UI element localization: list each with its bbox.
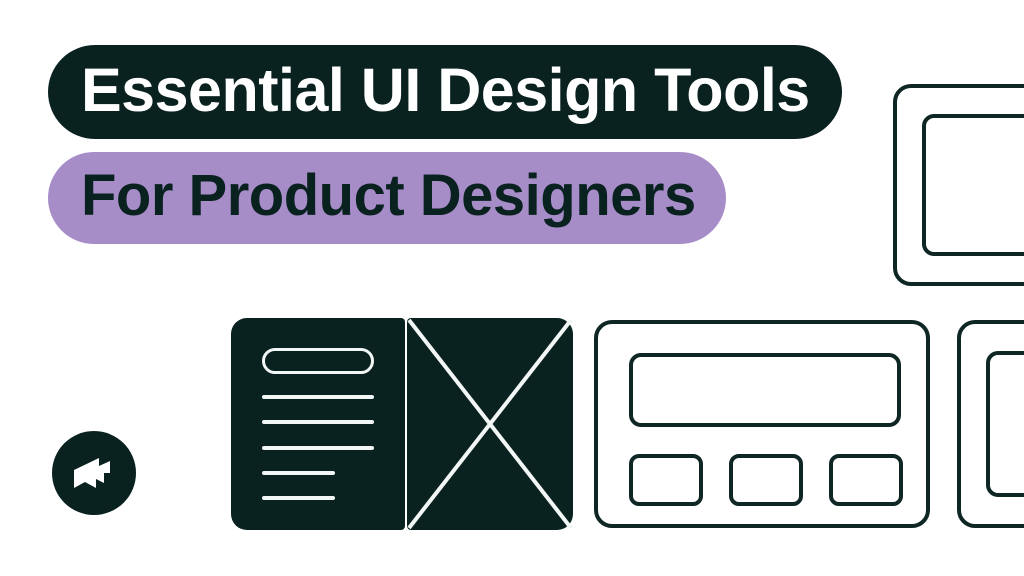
diagonal-cross-icon bbox=[407, 318, 573, 530]
wireframe-text-line-short bbox=[262, 471, 335, 475]
wireframe-form-card[interactable] bbox=[594, 320, 930, 528]
wireframe-button-block bbox=[629, 454, 703, 506]
wireframe-nested-frame-card-bottom[interactable] bbox=[957, 320, 1024, 528]
brand-logo[interactable] bbox=[52, 431, 136, 515]
wireframe-inner-frame bbox=[986, 351, 1024, 497]
wireframe-text-line bbox=[262, 420, 374, 424]
wireframe-button-block bbox=[829, 454, 903, 506]
page-title: Essential UI Design Tools bbox=[81, 60, 810, 121]
slide-canvas: Essential UI Design Tools For Product De… bbox=[0, 0, 1024, 576]
wireframe-image-placeholder-card[interactable] bbox=[407, 318, 573, 530]
headline-subtitle-pill: For Product Designers bbox=[48, 152, 726, 244]
headline-title-pill: Essential UI Design Tools bbox=[48, 45, 842, 139]
wireframe-button-block bbox=[729, 454, 803, 506]
lightning-bolt-icon bbox=[52, 431, 136, 515]
wireframe-text-line-short bbox=[262, 496, 335, 500]
wireframe-text-line bbox=[262, 395, 374, 399]
wireframe-list-card[interactable] bbox=[231, 318, 405, 530]
wireframe-inner-frame bbox=[922, 114, 1024, 256]
wireframe-text-line bbox=[262, 446, 374, 450]
wireframe-hero-block bbox=[629, 353, 901, 427]
page-subtitle: For Product Designers bbox=[81, 167, 696, 225]
wireframe-search-field bbox=[262, 348, 374, 374]
wireframe-nested-frame-card-top[interactable] bbox=[893, 84, 1024, 286]
